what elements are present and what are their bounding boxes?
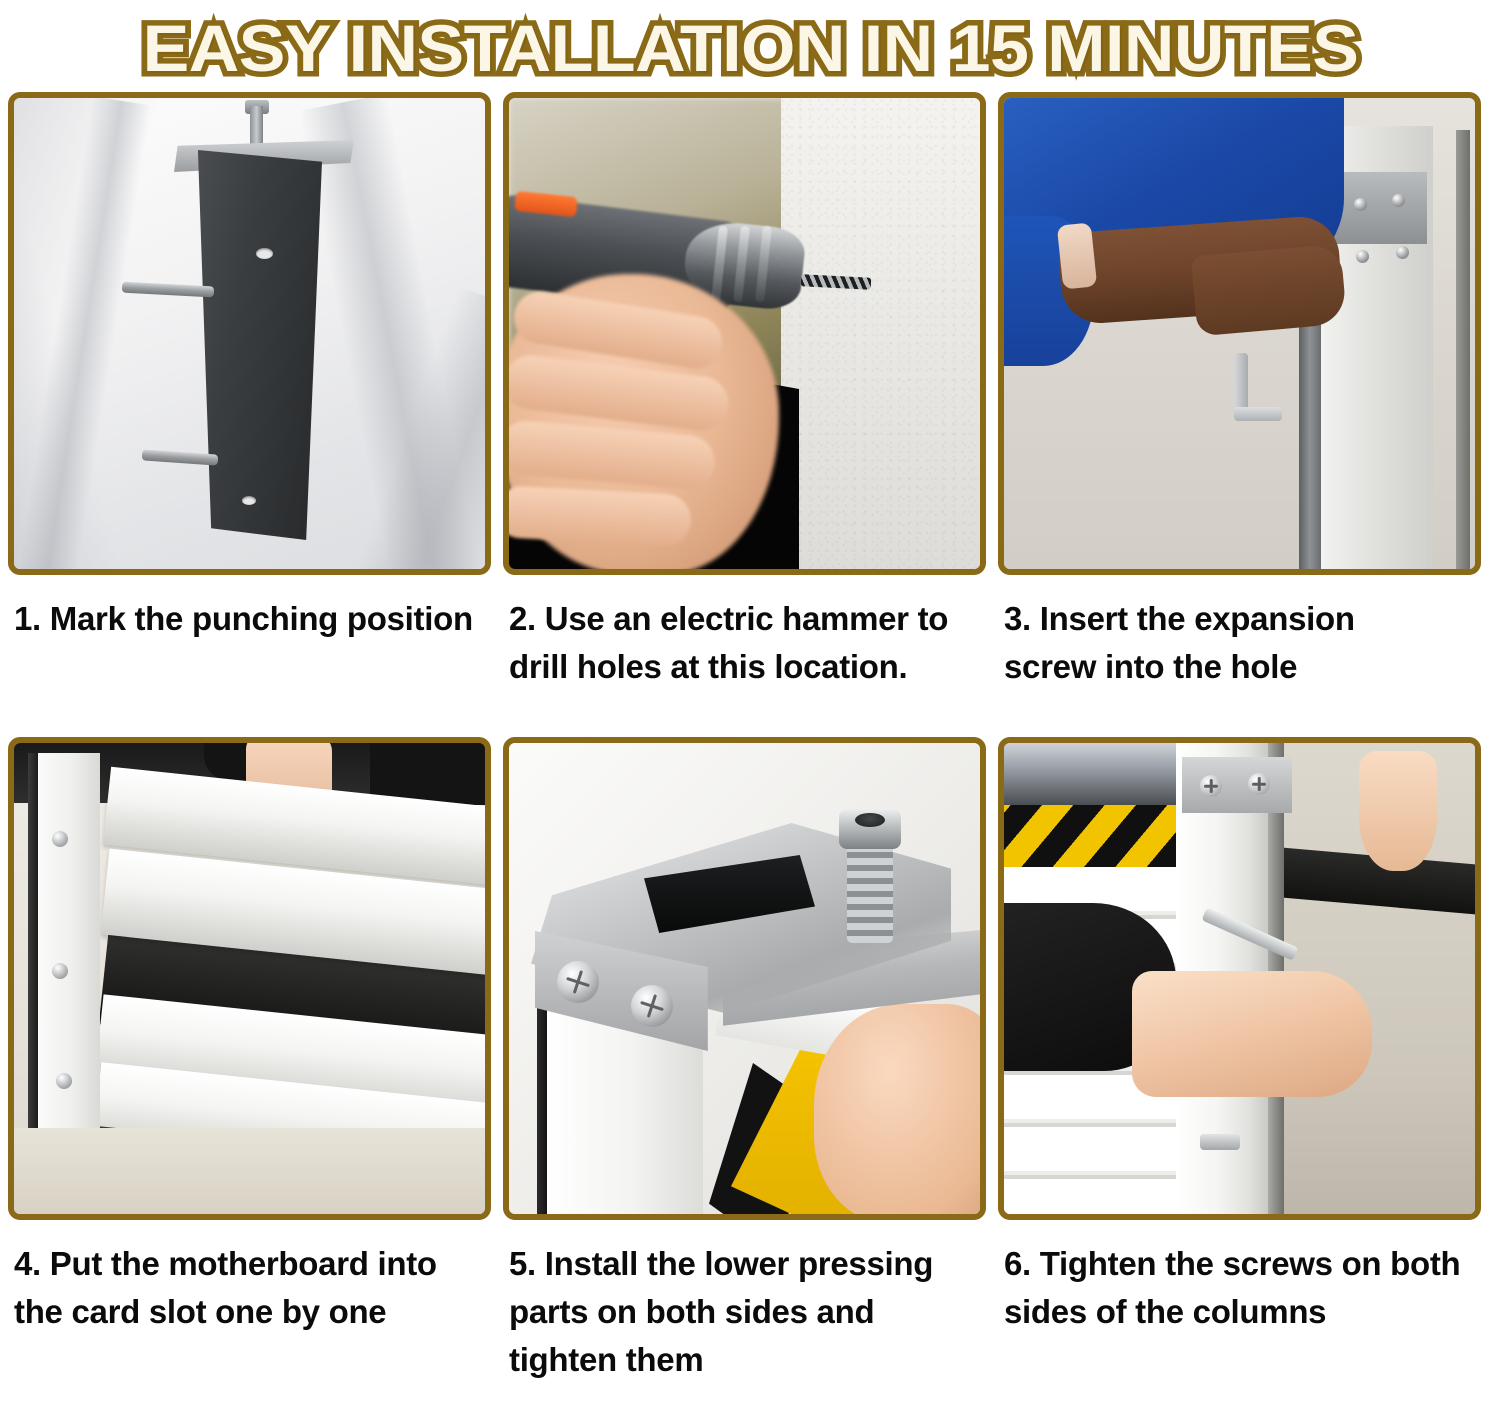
step-card-3: 3. Insert the expansion screw into the h… bbox=[998, 92, 1492, 691]
photo-frame-1 bbox=[8, 92, 491, 575]
steps-row-top: 1. Mark the punching position bbox=[8, 92, 1492, 737]
column-screw bbox=[52, 831, 68, 847]
caption-line: screw into the hole bbox=[1004, 643, 1492, 691]
photo-mark-punching-position bbox=[14, 98, 485, 569]
punch-hole-lower bbox=[242, 496, 256, 505]
column-far-edge bbox=[1456, 130, 1470, 569]
working-hand bbox=[1132, 971, 1372, 1097]
plate-screw bbox=[1354, 198, 1367, 211]
steps-row-bottom: 4. Put the motherboard into the card slo… bbox=[8, 737, 1492, 1377]
step-caption-4: 4. Put the motherboard into the card slo… bbox=[8, 1240, 491, 1336]
step-card-1: 1. Mark the punching position bbox=[8, 92, 503, 643]
punch-hole-upper bbox=[256, 248, 273, 259]
bolt-socket bbox=[855, 813, 885, 827]
caption-line: the card slot one by one bbox=[14, 1288, 491, 1336]
caption-line: drill holes at this location. bbox=[509, 643, 986, 691]
hand-fingers bbox=[1191, 244, 1347, 337]
phillips-screw bbox=[631, 985, 673, 1027]
photo-drill-holes bbox=[509, 98, 980, 569]
plate-screw bbox=[1392, 194, 1405, 207]
caption-line: tighten them bbox=[509, 1336, 986, 1384]
hazard-stripe bbox=[1004, 805, 1178, 867]
photo-frame-2 bbox=[503, 92, 986, 575]
allen-key-bend bbox=[1234, 407, 1282, 421]
title-banner: EASY INSTALLATION IN 15 MINUTES bbox=[0, 0, 1500, 92]
bracket-screw bbox=[1200, 775, 1222, 797]
step-caption-2: 2. Use an electric hammer to drill holes… bbox=[503, 595, 986, 691]
installation-steps-grid: 1. Mark the punching position bbox=[0, 92, 1500, 1377]
white-wall bbox=[781, 98, 980, 569]
step-caption-5: 5. Install the lower pressing parts on b… bbox=[503, 1240, 986, 1384]
column-with-card-slots bbox=[38, 753, 100, 1128]
page-title: EASY INSTALLATION IN 15 MINUTES bbox=[142, 10, 1358, 86]
step-card-2: 2. Use an electric hammer to drill holes… bbox=[503, 92, 998, 691]
bracket-screw bbox=[1248, 773, 1270, 795]
photo-insert-expansion-screw bbox=[1004, 98, 1475, 569]
sleeve-cuff bbox=[1057, 222, 1098, 289]
photo-insert-motherboard bbox=[14, 743, 485, 1214]
caption-line: parts on both sides and bbox=[509, 1288, 986, 1336]
step-card-4: 4. Put the motherboard into the card slo… bbox=[8, 737, 503, 1336]
step-caption-1: 1. Mark the punching position bbox=[8, 595, 491, 643]
step-caption-3: 3. Insert the expansion screw into the h… bbox=[998, 595, 1492, 691]
step-card-6: 6. Tighten the screws on both sides of t… bbox=[998, 737, 1492, 1336]
hand bbox=[814, 1004, 980, 1214]
caption-line: sides of the columns bbox=[1004, 1288, 1492, 1336]
photo-frame-3 bbox=[998, 92, 1481, 575]
plate-screw bbox=[1396, 246, 1409, 259]
photo-lower-pressing-parts bbox=[509, 743, 980, 1214]
phillips-screw bbox=[557, 961, 599, 1003]
caption-line: 3. Insert the expansion bbox=[1004, 595, 1492, 643]
caption-line: 5. Install the lower pressing bbox=[509, 1240, 986, 1288]
column-screw bbox=[52, 963, 68, 979]
supporting-hand bbox=[1359, 751, 1437, 871]
caption-line: 6. Tighten the screws on both bbox=[1004, 1240, 1492, 1288]
floor bbox=[14, 1128, 485, 1214]
caption-line: 4. Put the motherboard into bbox=[14, 1240, 491, 1288]
photo-frame-4 bbox=[8, 737, 491, 1220]
step-card-5: 5. Install the lower pressing parts on b… bbox=[503, 737, 998, 1384]
caption-line: 1. Mark the punching position bbox=[14, 595, 491, 643]
column-screw bbox=[56, 1073, 72, 1089]
column-top-bracket bbox=[1182, 757, 1292, 813]
plate-screw bbox=[1356, 250, 1369, 263]
finger bbox=[509, 485, 692, 547]
column-body bbox=[190, 150, 322, 540]
caption-line: 2. Use an electric hammer to bbox=[509, 595, 986, 643]
upper-structure bbox=[1004, 743, 1180, 805]
lower-column-screw bbox=[1200, 1134, 1240, 1150]
step-caption-6: 6. Tighten the screws on both sides of t… bbox=[998, 1240, 1492, 1336]
photo-frame-6 bbox=[998, 737, 1481, 1220]
photo-tighten-column-screws bbox=[1004, 743, 1475, 1214]
photo-frame-5 bbox=[503, 737, 986, 1220]
